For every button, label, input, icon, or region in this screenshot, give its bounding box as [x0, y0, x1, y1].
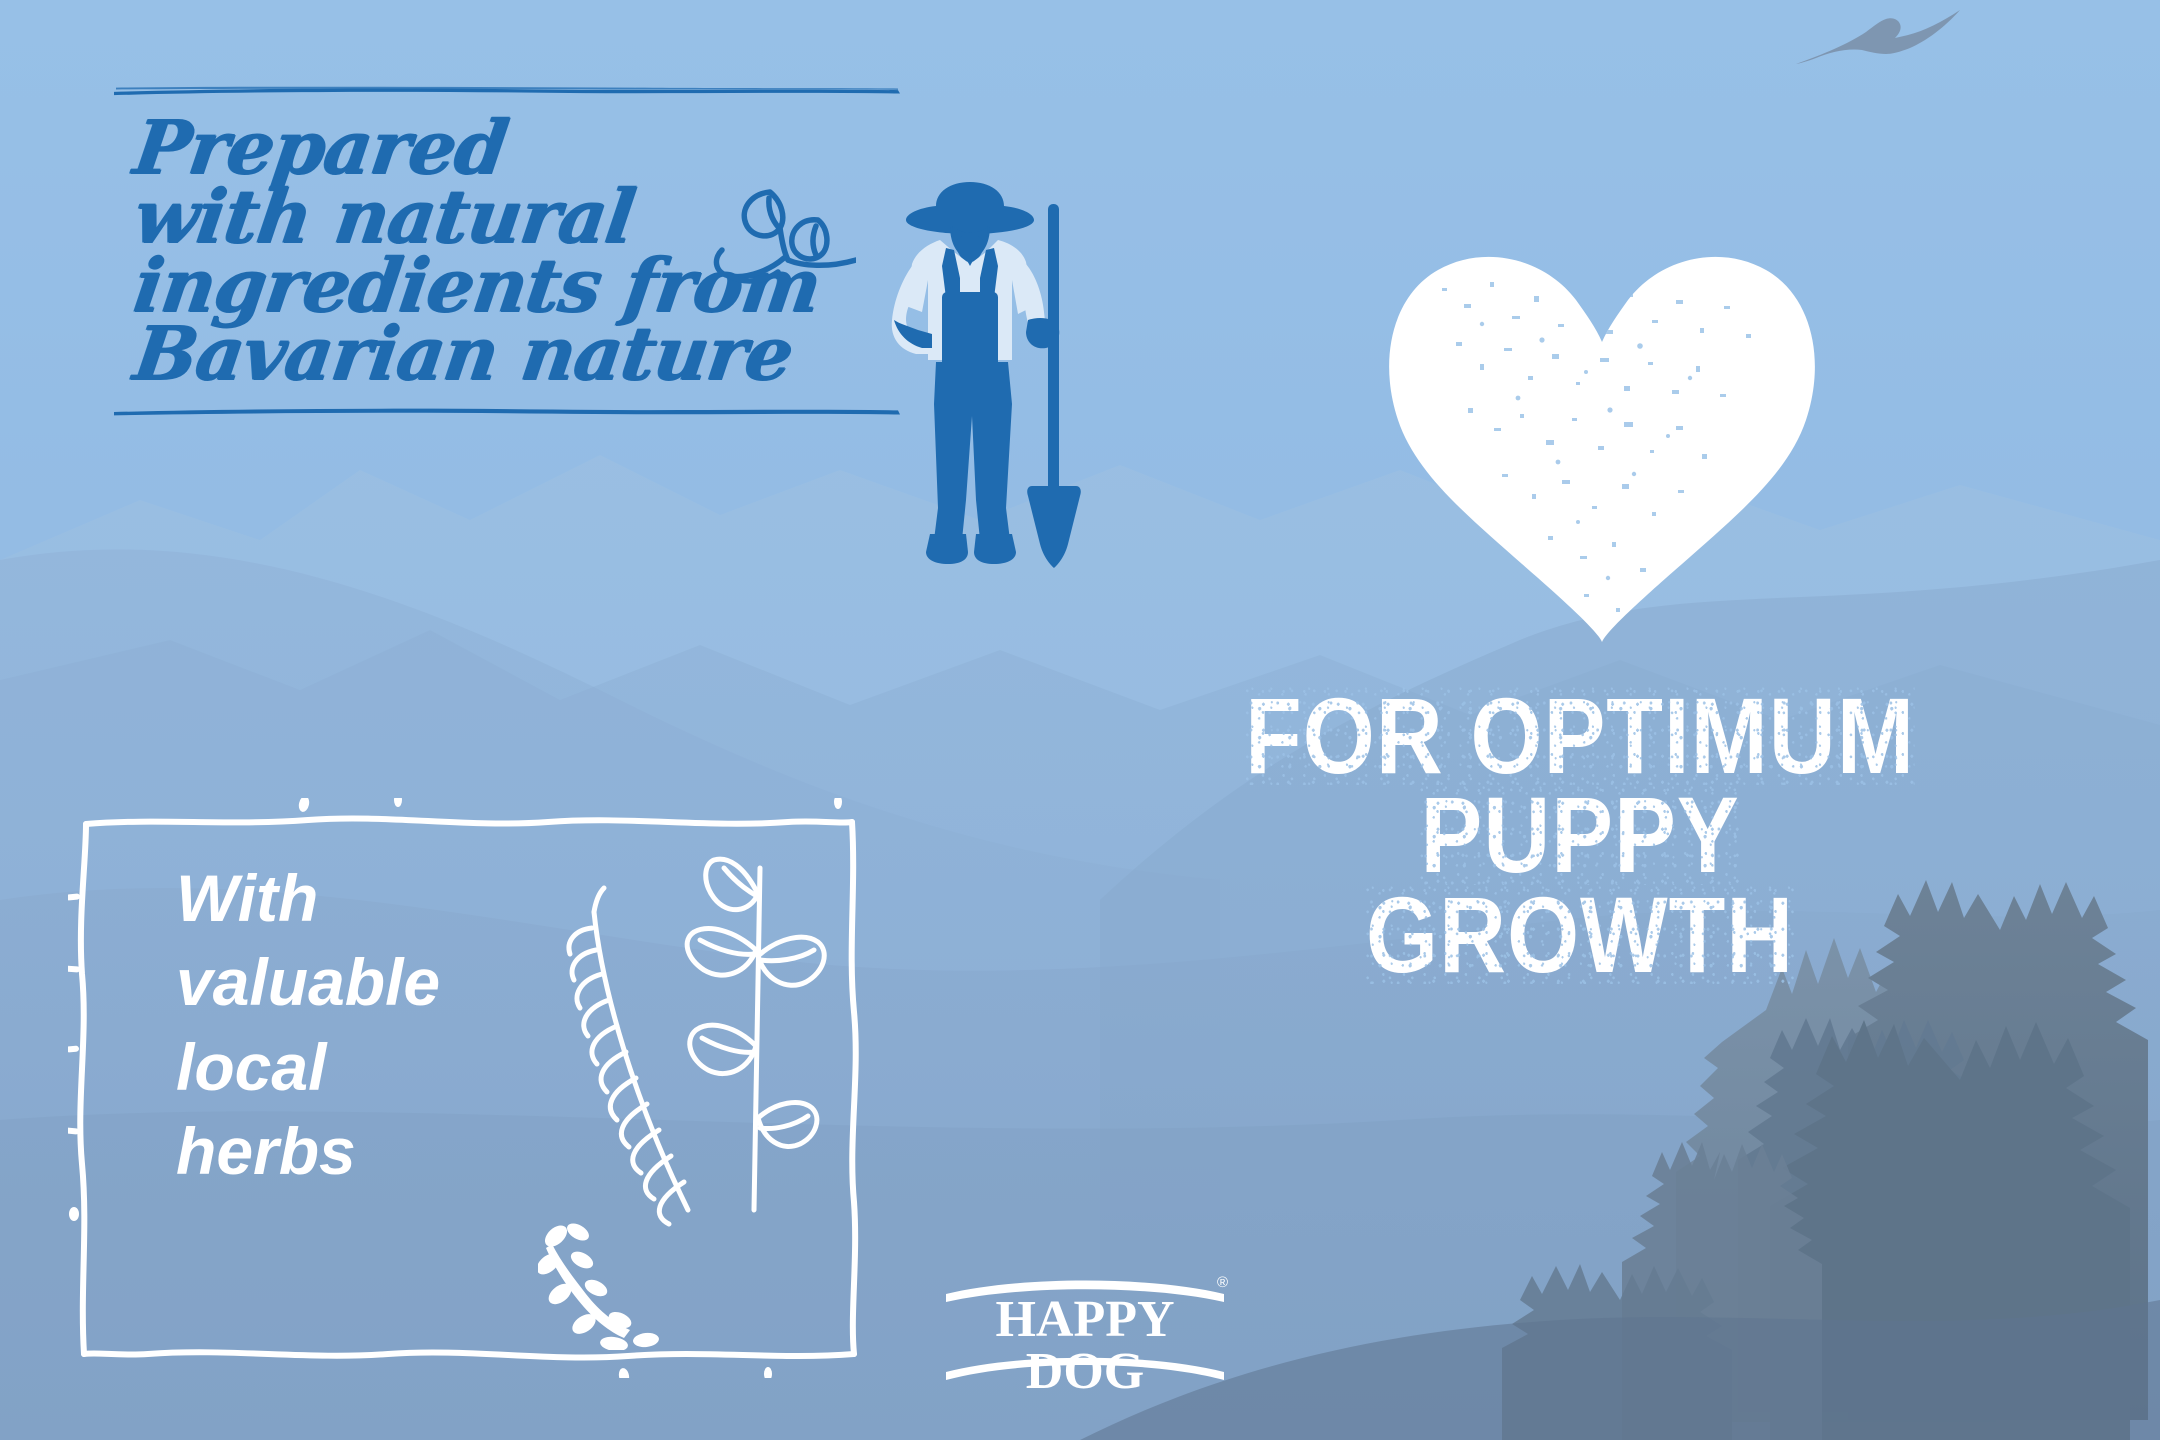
registered-mark: ®: [1217, 1274, 1228, 1291]
herb-line-3: local: [176, 1025, 576, 1109]
grunge-texture: [1366, 885, 1794, 984]
script-line-4: Bavarian nature: [130, 320, 912, 389]
headline-line-1: FOR OPTIMUM: [1210, 686, 1950, 785]
script-line-1: Prepared: [130, 114, 912, 183]
brush-rule-top: [112, 86, 902, 96]
leafy-branch-icon: [687, 859, 824, 1210]
small-sprig-icon: [538, 1220, 660, 1350]
grunge-texture: [1245, 686, 1915, 785]
herb-illustrations: [538, 850, 868, 1350]
textured-heart-icon: [1372, 212, 1832, 662]
happy-dog-logo[interactable]: ® HAPPY DOG: [940, 1268, 1230, 1388]
herb-line-2: valuable: [176, 940, 576, 1024]
headline-line-3: GROWTH: [1210, 885, 1950, 984]
farmer-with-shovel-icon: [876, 148, 1136, 578]
brush-rule-bottom: [112, 407, 902, 417]
grunge-texture: [1420, 785, 1739, 884]
herb-line-4: herbs: [176, 1109, 576, 1193]
local-herbs-claim: With valuable local herbs: [68, 798, 868, 1378]
fern-frond-icon: [569, 888, 688, 1224]
leaf-sprig-doodle: [706, 176, 856, 316]
herbs-text: With valuable local herbs: [176, 856, 576, 1194]
seagull-icon: [1790, 8, 1970, 108]
logo-wordmark: HAPPY DOG: [940, 1294, 1230, 1398]
puppy-growth-headline: FOR OPTIMUM PUPPY GROWTH: [1150, 686, 2010, 984]
headline-line-2: PUPPY: [1210, 785, 1950, 884]
herb-line-1: With: [176, 856, 576, 940]
packaging-banner: Prepared with natural ingredients from B…: [0, 0, 2160, 1440]
